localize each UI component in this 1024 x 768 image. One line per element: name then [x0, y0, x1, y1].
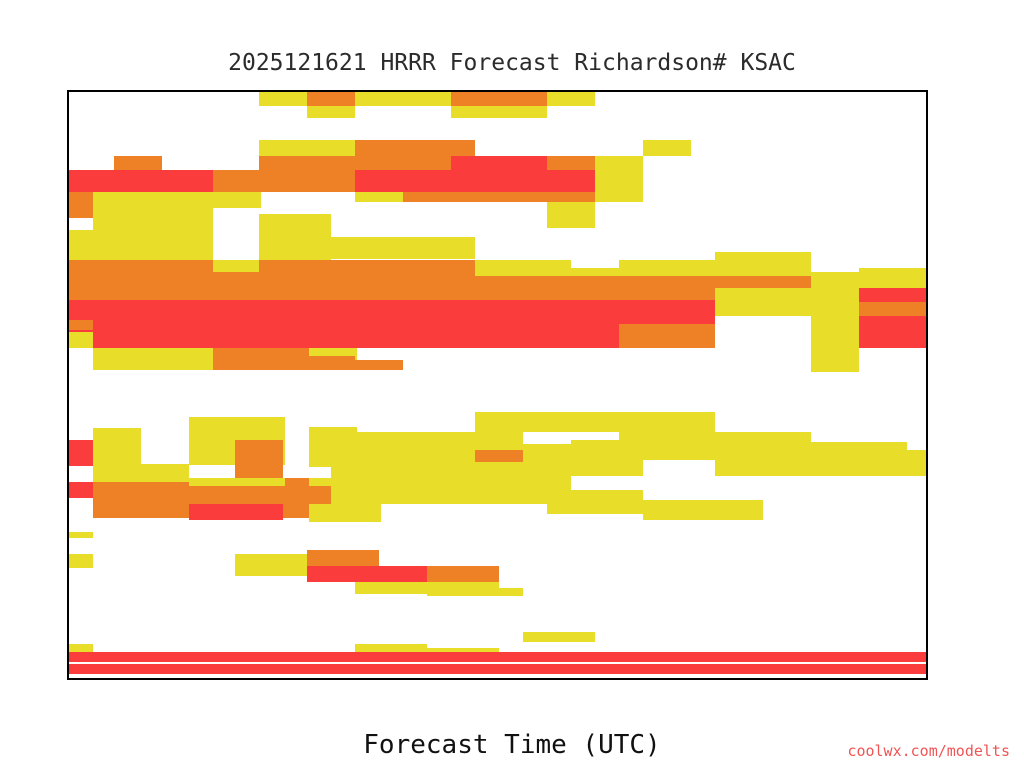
heatmap-plot-area — [67, 90, 928, 680]
site-watermark: coolwx.com/modelts — [847, 742, 1010, 760]
gridlines-layer — [69, 92, 926, 678]
chart-root: 2025121621 HRRR Forecast Richardson# KSA… — [0, 0, 1024, 768]
page-title: 2025121621 HRRR Forecast Richardson# KSA… — [0, 50, 1024, 76]
colorbar-legend — [944, 313, 966, 480]
